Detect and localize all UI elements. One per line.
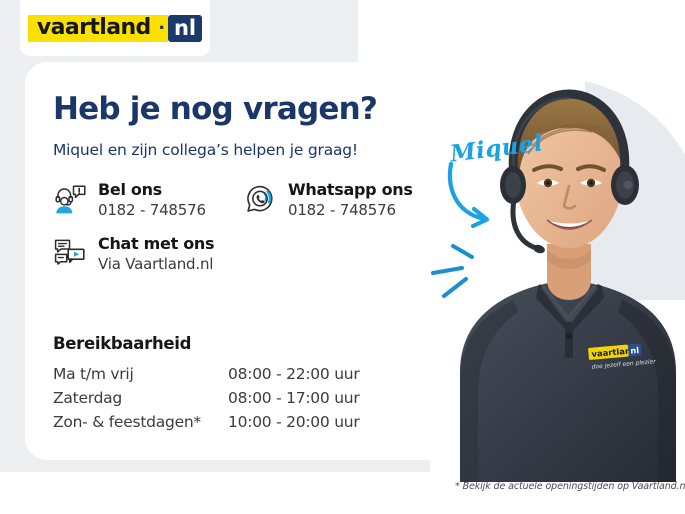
whatsapp-number[interactable]: 0182 - 748576	[288, 200, 413, 220]
contact-option-title: Bel ons	[98, 180, 206, 200]
logo-lockup: vaartland · nl	[28, 15, 202, 42]
chat-link[interactable]: Via Vaartland.nl	[98, 254, 214, 274]
headset-person-icon	[53, 182, 87, 216]
logo-wordmark: vaartland	[28, 15, 159, 42]
availability-table: Ma t/m vrij 08:00 - 22:00 uur Zaterdag 0…	[53, 365, 359, 437]
contact-row: Bel ons 0182 - 748576 Whatsapp ons	[53, 180, 473, 220]
availability-hours: 10:00 - 20:00 uur	[228, 413, 359, 437]
vaartland-logo[interactable]: vaartland · nl	[20, 0, 210, 56]
contact-option-text: Chat met ons Via Vaartland.nl	[98, 234, 214, 274]
contact-option-text: Whatsapp ons 0182 - 748576	[288, 180, 413, 220]
footnote-text: * Bekijk de actuele openingstijden op Va…	[455, 481, 685, 492]
table-row: Zaterdag 08:00 - 17:00 uur	[53, 389, 359, 413]
table-row: Ma t/m vrij 08:00 - 22:00 uur	[53, 365, 359, 389]
contact-option-text: Bel ons 0182 - 748576	[98, 180, 206, 220]
contact-option-title: Whatsapp ons	[288, 180, 413, 200]
chat-bubbles-icon	[53, 236, 87, 270]
availability-hours: 08:00 - 22:00 uur	[228, 365, 359, 389]
logo-dot: ·	[159, 15, 168, 42]
contact-option-title: Chat met ons	[98, 234, 214, 254]
curved-arrow-icon	[440, 160, 540, 240]
availability-title: Bereikbaarheid	[53, 334, 359, 353]
logo-tld-badge: nl	[168, 15, 202, 42]
contact-option-whatsapp[interactable]: Whatsapp ons 0182 - 748576	[243, 180, 453, 220]
page-subtitle: Miquel en zijn collega’s helpen je graag…	[53, 141, 358, 159]
availability-day: Zon- & feestdagen*	[53, 413, 228, 437]
contact-options: Bel ons 0182 - 748576 Whatsapp ons	[53, 180, 473, 289]
contact-option-chat[interactable]: Chat met ons Via Vaartland.nl	[53, 234, 243, 274]
whatsapp-icon	[243, 182, 277, 216]
contact-row: Chat met ons Via Vaartland.nl	[53, 234, 473, 274]
decorative-dashes-icon	[428, 238, 508, 308]
page-title: Heb je nog vragen?	[53, 94, 377, 125]
availability-section: Bereikbaarheid Ma t/m vrij 08:00 - 22:00…	[53, 334, 359, 437]
availability-day: Zaterdag	[53, 389, 228, 413]
table-row: Zon- & feestdagen* 10:00 - 20:00 uur	[53, 413, 359, 437]
availability-hours: 08:00 - 17:00 uur	[228, 389, 359, 413]
contact-option-call[interactable]: Bel ons 0182 - 748576	[53, 180, 243, 220]
svg-text:nl: nl	[630, 345, 640, 356]
availability-day: Ma t/m vrij	[53, 365, 228, 389]
phone-number[interactable]: 0182 - 748576	[98, 200, 206, 220]
